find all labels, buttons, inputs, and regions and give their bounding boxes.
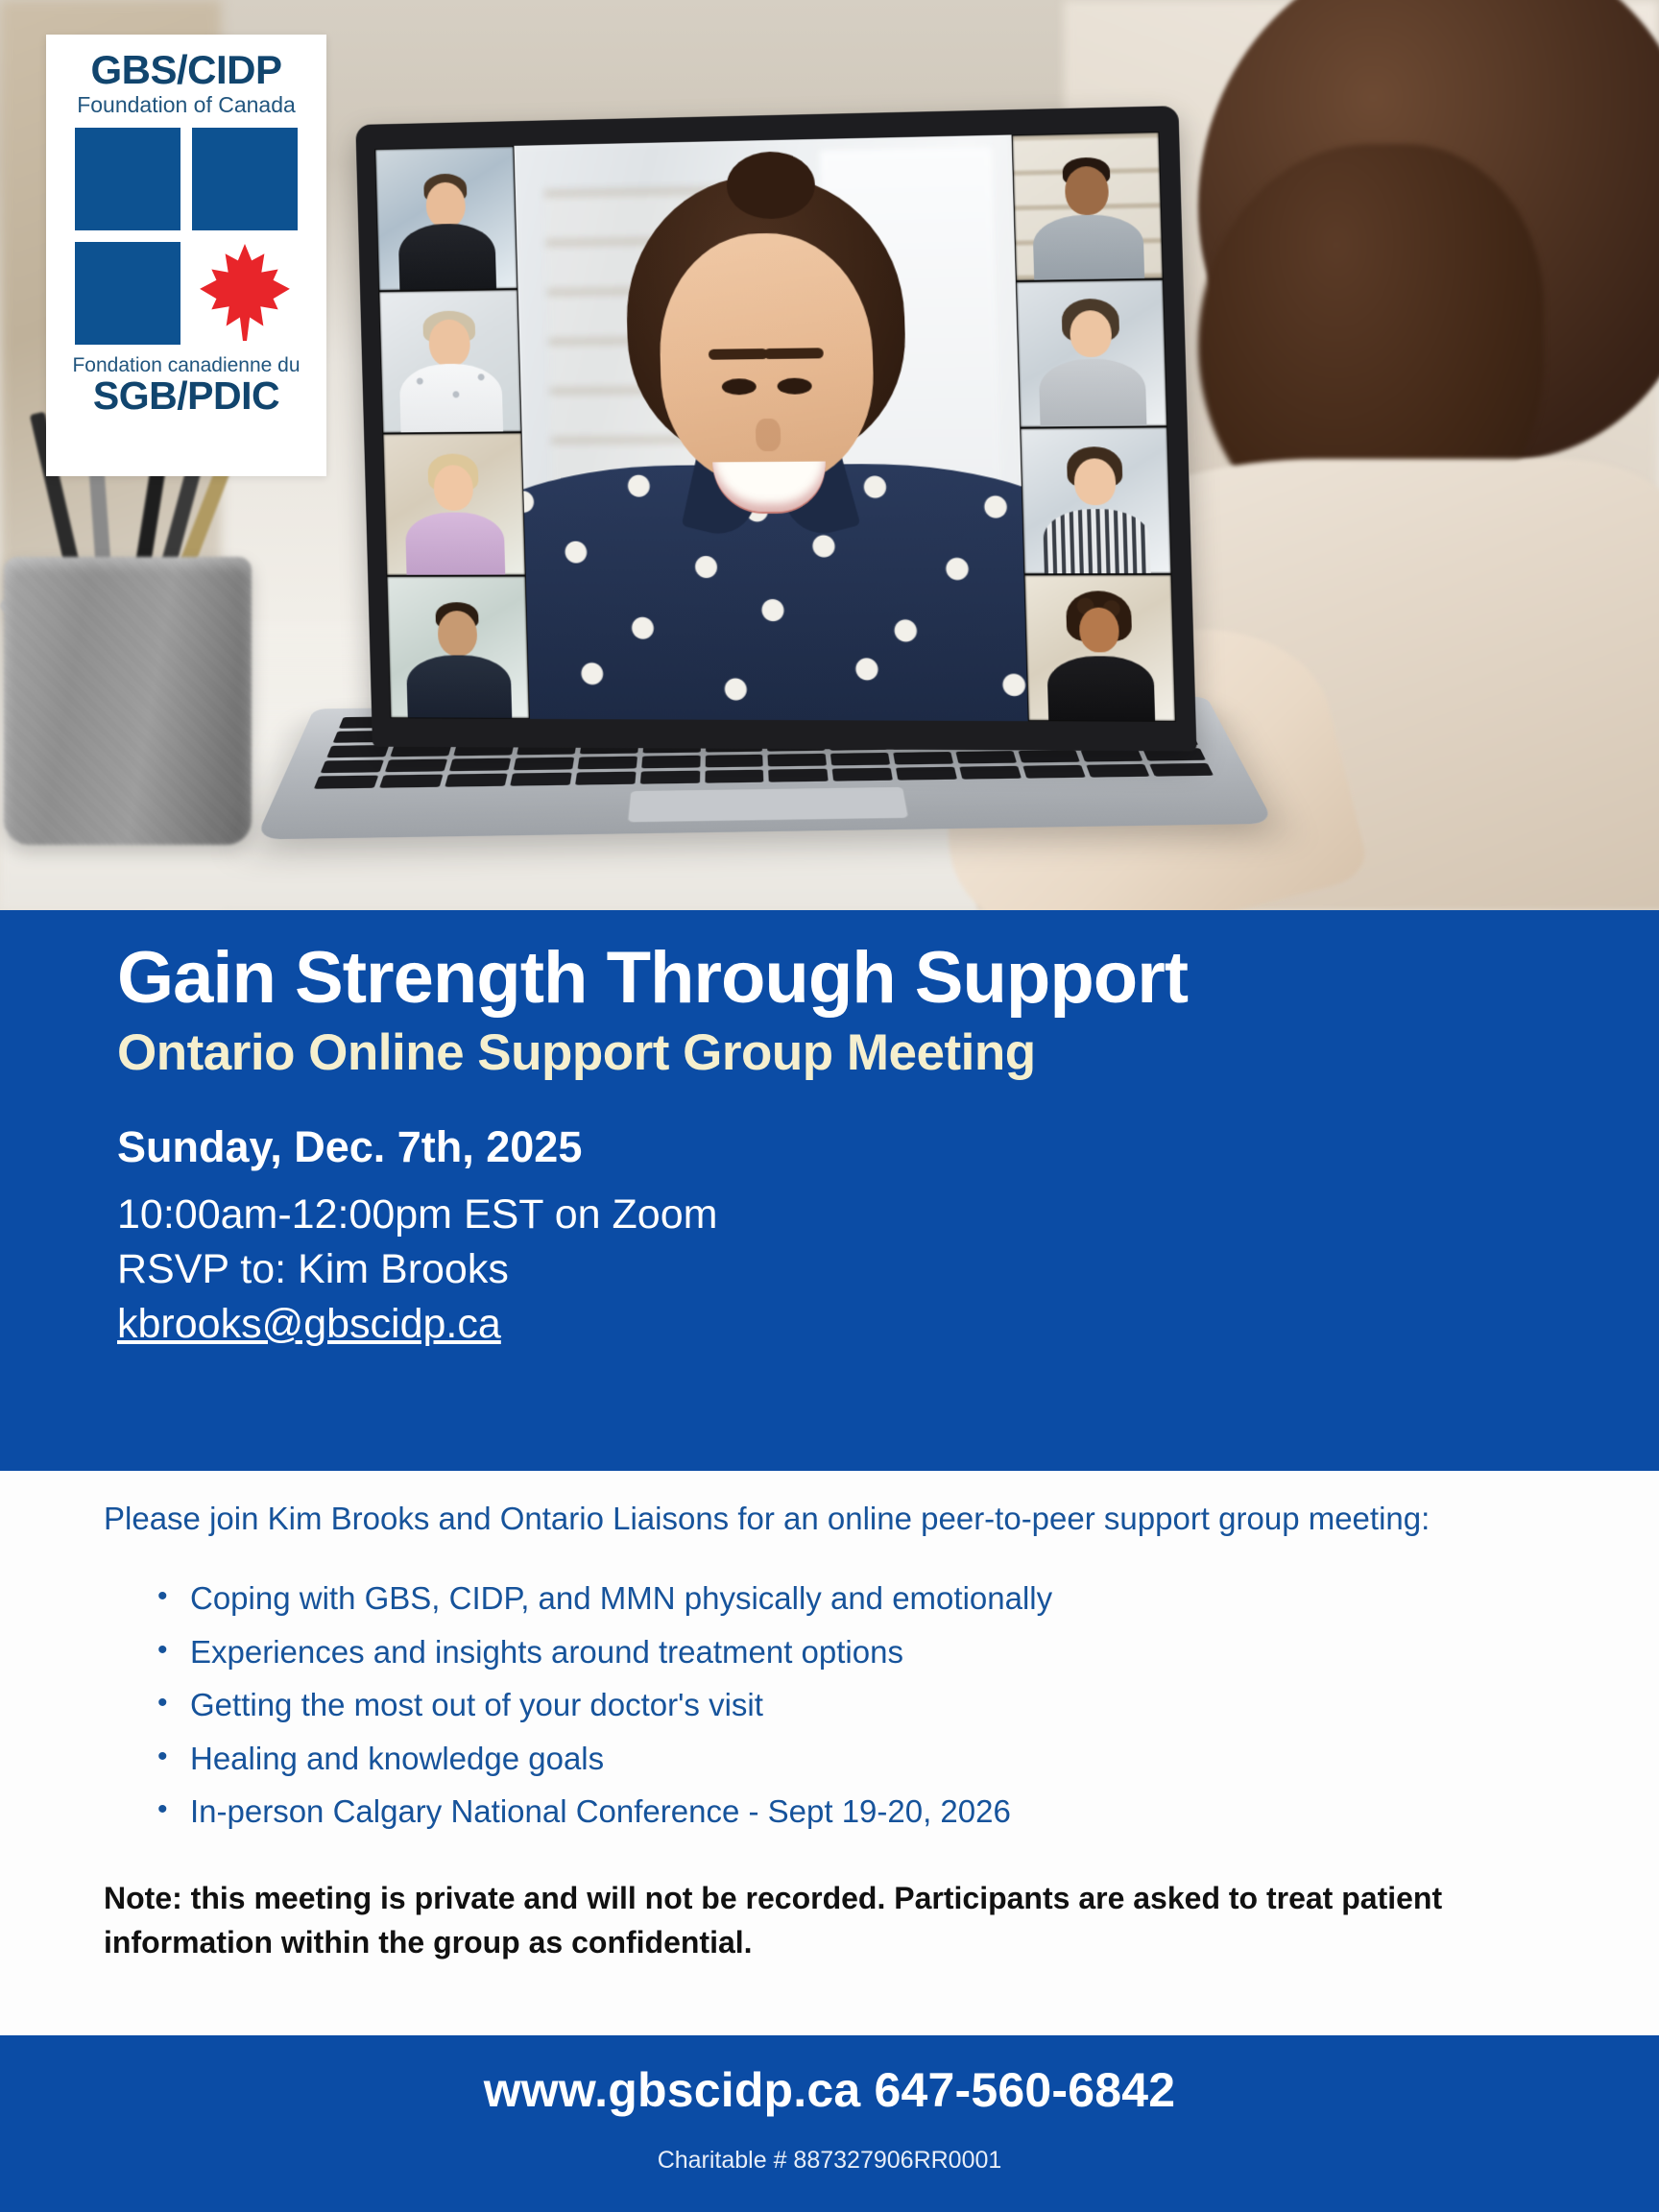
key <box>894 752 954 764</box>
bullet-icon: • <box>157 1630 190 1670</box>
key <box>449 758 511 772</box>
list-item: • Healing and knowledge goals <box>157 1737 1555 1781</box>
key <box>514 757 574 771</box>
flyer-poster: GBS/CIDP Foundation of Canada Fondation … <box>0 0 1659 2212</box>
key <box>385 759 447 773</box>
footer-charitable-number: Charitable # 887327906RR0001 <box>0 2147 1659 2175</box>
list-item: • Getting the most out of your doctor's … <box>157 1683 1555 1727</box>
video-call-grid <box>374 132 1176 722</box>
list-item-label: In-person Calgary National Conference - … <box>190 1790 1011 1834</box>
eye-right <box>777 377 811 394</box>
key <box>639 771 699 784</box>
key <box>1023 765 1086 779</box>
key <box>1086 764 1149 778</box>
list-item-label: Experiences and insights around treatmen… <box>190 1630 903 1674</box>
logo-square-grid <box>75 128 298 345</box>
bullet-icon: • <box>157 1737 190 1776</box>
hero-photo: GBS/CIDP Foundation of Canada Fondation … <box>0 0 1659 910</box>
video-tile-man-headset-grey-shirt <box>1012 132 1164 281</box>
key <box>832 768 893 781</box>
logo-french-acronym: SGB/PDIC <box>93 376 279 417</box>
rsvp-email-link[interactable]: kbrooks@gbscidp.ca <box>117 1297 501 1352</box>
eyebrow-left <box>709 349 768 360</box>
logo-title: GBS/CIDP <box>90 50 281 91</box>
video-tile-man-with-headphones-writing <box>374 146 517 291</box>
intro-paragraph: Please join Kim Brooks and Ontario Liais… <box>104 1494 1555 1544</box>
nose <box>756 419 781 451</box>
list-item-label: Coping with GBS, CIDP, and MMN physicall… <box>190 1576 1052 1621</box>
video-tile-man-glasses-navy-shirt <box>386 576 529 719</box>
list-item-label: Healing and knowledge goals <box>190 1737 604 1781</box>
key <box>769 769 829 782</box>
bullet-icon: • <box>157 1576 190 1616</box>
page-title: Gain Strength Through Support <box>117 937 1659 1019</box>
key <box>510 773 571 786</box>
event-banner: Gain Strength Through Support Ontario On… <box>0 910 1659 1471</box>
organization-logo-card: GBS/CIDP Foundation of Canada Fondation … <box>46 35 326 476</box>
key <box>960 766 1022 780</box>
list-item: • Coping with GBS, CIDP, and MMN physica… <box>157 1576 1555 1621</box>
video-tile-woman-grey-sweater <box>1016 279 1167 428</box>
key <box>575 772 636 785</box>
key <box>326 745 389 757</box>
key <box>896 767 957 781</box>
list-item: • Experiences and insights around treatm… <box>157 1630 1555 1674</box>
page-subtitle: Ontario Online Support Group Meeting <box>117 1022 1659 1084</box>
body-section: Please join Kim Brooks and Ontario Liais… <box>0 1471 1659 2035</box>
key <box>1019 750 1080 762</box>
footer-contact[interactable]: www.gbscidp.ca 647-560-6842 <box>0 2062 1659 2118</box>
key <box>445 774 507 787</box>
logo-square-top-left <box>75 128 180 230</box>
video-tile-woman-lilac-shirt <box>382 432 525 576</box>
video-tiles-left-column <box>374 146 530 719</box>
agenda-list: • Coping with GBS, CIDP, and MMN physica… <box>157 1576 1555 1834</box>
key <box>956 751 1018 763</box>
event-time: 10:00am-12:00pm EST on Zoom <box>117 1188 1659 1242</box>
video-tile-woman-curly-hair-black-top <box>1023 574 1175 722</box>
event-date: Sunday, Dec. 7th, 2025 <box>117 1120 1659 1174</box>
maple-leaf-icon <box>192 242 298 345</box>
logo-square-top-right <box>192 128 298 230</box>
laptop-lid <box>355 106 1196 751</box>
rsvp-contact: RSVP to: Kim Brooks <box>117 1242 1659 1297</box>
bullet-icon: • <box>157 1790 190 1829</box>
key <box>768 754 827 767</box>
eye-left <box>722 378 757 395</box>
privacy-note: Note: this meeting is private and will n… <box>104 1876 1555 1965</box>
list-item-label: Getting the most out of your doctor's vi… <box>190 1683 763 1727</box>
bullet-icon: • <box>157 1683 190 1722</box>
key <box>641 756 700 769</box>
mesh-pencil-cup <box>4 557 252 845</box>
video-tiles-right-column <box>1012 132 1176 722</box>
video-tile-woman-striped-shirt <box>1020 426 1171 574</box>
logo-subtitle: Foundation of Canada <box>77 92 296 118</box>
key <box>1149 763 1214 777</box>
video-tile-main-speaker <box>514 134 1027 721</box>
video-tile-older-woman-patterned-blouse <box>378 289 521 434</box>
list-item: • In-person Calgary National Conference … <box>157 1790 1555 1834</box>
key <box>1081 749 1143 761</box>
key <box>705 770 764 783</box>
key <box>577 757 637 770</box>
key <box>379 775 443 788</box>
key <box>314 776 378 789</box>
footer-bar: www.gbscidp.ca 647-560-6842 Charitable #… <box>0 2035 1659 2212</box>
key <box>830 753 890 765</box>
logo-square-bottom-left <box>75 242 180 345</box>
trackpad <box>627 786 909 823</box>
laptop <box>317 115 1210 910</box>
eyebrow-right <box>763 349 823 360</box>
key <box>705 755 763 768</box>
key <box>321 760 384 774</box>
